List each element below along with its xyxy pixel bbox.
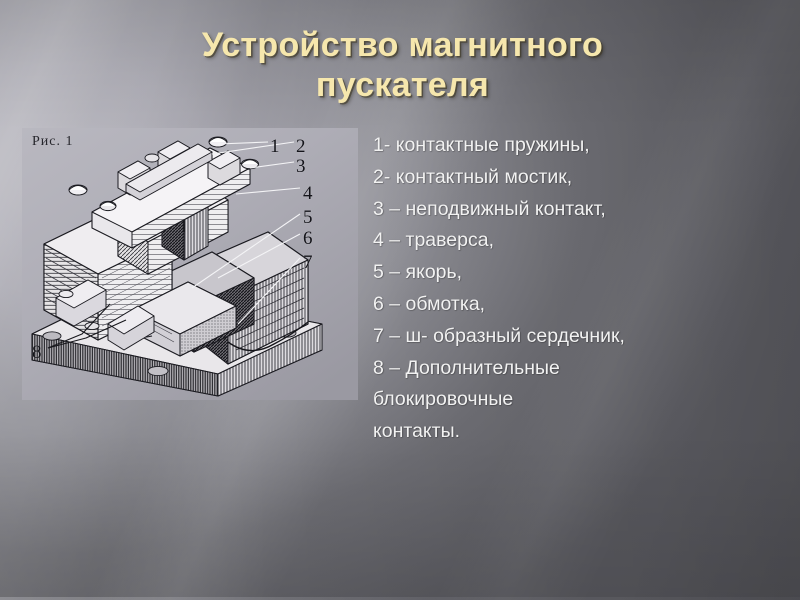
legend-item-3: 3 – неподвижный контакт,	[373, 194, 793, 226]
legend-item-5: 5 – якорь,	[373, 257, 793, 289]
figure-svg	[22, 128, 358, 400]
legend-item-4: 4 – траверса,	[373, 225, 793, 257]
legend-list: 1- контактные пружины, 2- контактный мос…	[373, 130, 793, 448]
slide-canvas: Устройство магнитного пускателя	[0, 0, 800, 600]
legend-item-8-cont-2: контакты.	[373, 416, 793, 448]
legend-item-6: 6 – обмотка,	[373, 289, 793, 321]
legend-item-1: 1- контактные пружины,	[373, 130, 793, 162]
legend-item-8: 8 – Дополнительные	[373, 353, 793, 385]
figure-caption: Рис. 1	[32, 134, 74, 150]
legend-item-2: 2- контактный мостик,	[373, 162, 793, 194]
slide-title: Устройство магнитного пускателя	[130, 26, 675, 106]
legend-item-8-cont-1: блокировочные	[373, 384, 793, 416]
legend-item-7: 7 – ш- образный сердечник,	[373, 321, 793, 353]
figure-magnetic-starter: Рис. 1 1 2 3 4 5 6 7 8	[22, 128, 358, 400]
